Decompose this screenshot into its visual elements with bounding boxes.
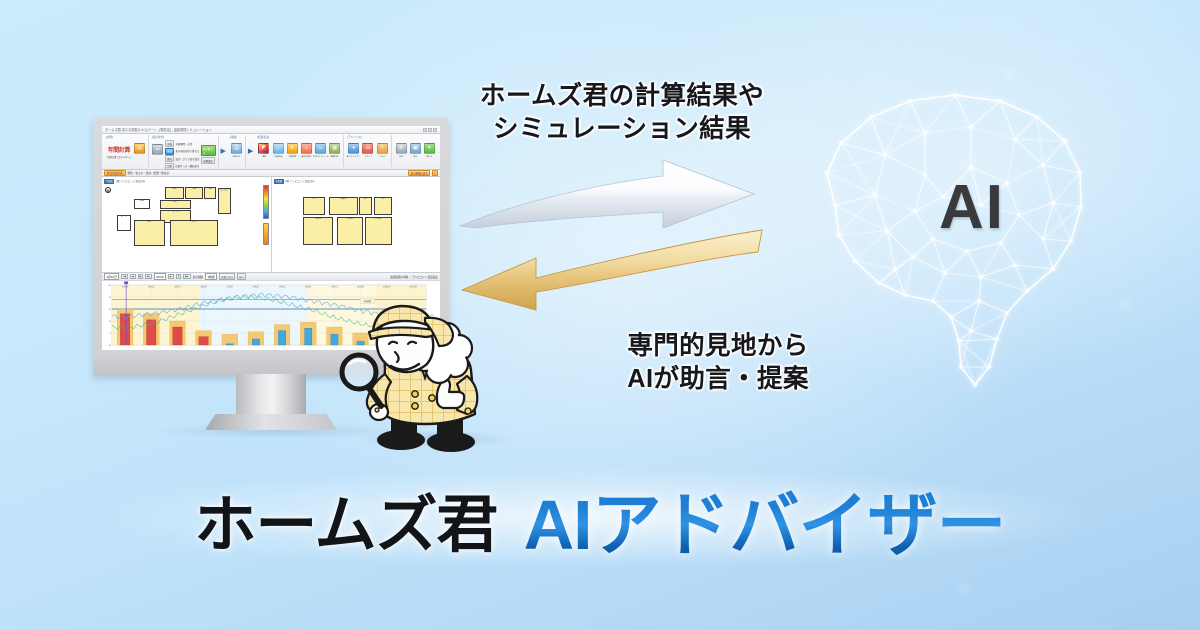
close-view-button[interactable]: ✕ 閉じる (423, 143, 436, 165)
bokeh-dot (960, 585, 968, 593)
settings-icon: ⚙ (396, 143, 407, 154)
room: CL (374, 197, 392, 215)
main-title: ホームズ君 AIアドバイザー (0, 478, 1200, 560)
title-product-name: ホームズ君 (194, 474, 497, 564)
condition-row[interactable]: 条件 設定・グラフ表示設定 (165, 155, 200, 162)
chart-right-label: 温度範囲の印刷 ／ アンビエント温度設定 (390, 275, 438, 279)
reset-button[interactable]: 初期設定 (201, 157, 216, 164)
svg-text:20: 20 (109, 309, 112, 311)
result-button-solar[interactable]: ☀ 日射取得 (286, 143, 299, 165)
print-button[interactable]: ⎙ 印刷する (230, 143, 243, 165)
room: 収納 (165, 187, 184, 199)
condition-text: 表示項目を切り替える (175, 149, 199, 153)
svg-text:30: 30 (109, 297, 112, 299)
result-caption: 日射取得 (288, 154, 296, 158)
result-button-envelope[interactable]: ⌂ 外皮性能 (272, 143, 285, 165)
misc-caption: 設定 (399, 154, 403, 158)
svg-text:-10: -10 (108, 345, 112, 347)
room: CL (303, 197, 325, 215)
advice-caption: ヘルプ (379, 154, 385, 158)
floorplan-2f: CL 階段室 WC CL 主寝室 子供室1 子供室2 (290, 191, 400, 247)
close-button[interactable] (433, 128, 437, 132)
time-field[interactable]: 05:00 (154, 273, 166, 280)
app-ribbon[interactable]: [計算] 年間計算 年間計算 (エネルギー) ▤ (102, 134, 440, 170)
poster-canvas: ホームズ君 省エネ診断エキスパート - [物件名] - 温熱環境シミュレーション… (0, 0, 1200, 630)
arrow-to-ai (458, 158, 758, 232)
pause-button[interactable]: ‖ (176, 274, 181, 280)
room: 階段室 (329, 197, 358, 215)
view-icon: ▣ (410, 143, 421, 154)
condition-text: 対象期間・日付 (175, 142, 192, 146)
room: WC (359, 197, 372, 215)
wall-icon: ▦ (329, 143, 340, 154)
heat-icon: ♨ (301, 143, 312, 154)
condition-chip: 条件 (165, 155, 175, 162)
help-icon[interactable]: ? (432, 170, 438, 176)
result-caption: 結露判定 (331, 154, 339, 158)
floorplan-caption: 1階 アンビエント温度分布 (116, 179, 146, 183)
help-button[interactable]: ? ヘルプ (376, 143, 389, 165)
interval-label: 表示間隔 (193, 275, 203, 279)
result-caption: 生活スケジュール (313, 154, 329, 158)
misc-caption: 閉じる (427, 154, 433, 158)
chart-icon: ▤ (134, 143, 145, 154)
recalculate-button[interactable]: 再計算する (201, 145, 216, 156)
svg-text:10: 10 (109, 321, 112, 323)
print-icon: ⎙ (231, 143, 242, 154)
condition-chip: 比較 (165, 163, 175, 170)
condition-text: 設定・グラフ表示設定 (175, 157, 199, 161)
room: ポーチ (117, 215, 131, 231)
condition-row-list: 実施 対象期間・日付 室温 表示項目を切り替える 条件 (165, 140, 200, 170)
result-button-condensation[interactable]: ▦ 結露判定 (328, 143, 341, 165)
ribbon-group-print: [印刷] ⎙ 印刷する (228, 135, 246, 167)
floorplan-pane-1f[interactable]: 平面図 1階 アンビエント温度分布 N 収納 洗面 浴室 キッチン 玄関 廊下 (102, 177, 272, 272)
ribbon-group-misc: ⚙ 設定 ▣ 表示 ✕ 閉じる (393, 135, 438, 167)
calc-chart-button[interactable]: ▤ (133, 143, 146, 165)
sun-icon: ☀ (287, 143, 298, 154)
room: 玄関 (134, 199, 151, 210)
chevron-right-icon: ▶ (220, 147, 227, 155)
svg-text:0: 0 (110, 333, 112, 335)
chart-button-1[interactable]: 先頭に戻る (219, 273, 235, 280)
compass-icon: N (105, 187, 111, 193)
homes-kun-mascot (333, 302, 518, 460)
room: キッチン (218, 188, 231, 214)
monitor-neck (236, 374, 306, 420)
chevron-right-icon: ▶ (247, 147, 254, 155)
room: 子供室2 (365, 217, 391, 245)
title-feature-name: AIアドバイザー (524, 469, 1006, 570)
condition-chip: 実施 (165, 140, 175, 147)
advice-caption: AIアドバイザー (347, 154, 361, 158)
prev-button[interactable]: ◀ (130, 274, 136, 280)
floorplan-tag: 平面図 (274, 179, 284, 184)
app-window-title: ホームズ君 省エネ診断エキスパート - [物件名] - 温熱環境シミュレーション (105, 127, 212, 132)
floorplan-header: 平面図 2階 アンビエント温度分布 (274, 179, 439, 184)
people-icon: ☺ (315, 143, 326, 154)
condition-text: 比較ケース・重ね表示 (175, 164, 199, 168)
result-button-load[interactable]: ♨ 暖冷房負荷 (300, 143, 313, 165)
print-caption: 印刷する (232, 154, 240, 158)
condition-preset-button[interactable]: ☰ (152, 144, 164, 166)
ribbon-group-advice: [アドバイス] ✦ AIアドバイザー ☰ レポート (345, 135, 391, 167)
callout-top: ホームズ君の計算結果や シミュレーション結果 (452, 80, 792, 145)
last-button[interactable]: ▶| (145, 274, 151, 280)
floorplan-caption: 2階 アンビエント温度分布 (285, 179, 315, 183)
thermometer-icon (263, 223, 269, 245)
condition-row[interactable]: 室温 表示項目を切り替える (165, 148, 200, 155)
step-button[interactable]: ▶▶ (183, 274, 191, 280)
play-button[interactable]: ▶ (168, 274, 174, 280)
maximize-button[interactable] (428, 128, 432, 132)
condition-row[interactable]: 実施 対象期間・日付 (165, 140, 200, 147)
result-caption: 暖冷房負荷 (301, 154, 311, 158)
bokeh-dot (700, 40, 706, 46)
ribbon-group-conditions: [表示条件] ☰ 実施 対象期間・日付 (150, 135, 219, 167)
chart-color-icon: ◩ (258, 143, 269, 154)
advice-caption: レポート (364, 154, 372, 158)
ai-label: AI (787, 37, 1157, 377)
result-button-temp[interactable]: ◩ 温熱 (257, 143, 270, 165)
result-caption: 外皮性能 (274, 154, 282, 158)
annual-calc-button[interactable]: 年間計算 年間計算 (エネルギー) (106, 141, 132, 167)
floorplan-tag: 平面図 (104, 179, 114, 184)
next-button[interactable]: ▶ (138, 274, 144, 280)
tabbar-subtitle: 断熱・省エネ・温熱／結果一覧表示 (128, 171, 170, 175)
floorplan-area: 平面図 1階 アンビエント温度分布 N 収納 洗面 浴室 キッチン 玄関 廊下 (102, 177, 440, 272)
room: 浴室 (204, 187, 216, 199)
room: 主寝室 (303, 217, 334, 245)
room: 和室 (134, 220, 165, 246)
first-button[interactable]: |◀ (121, 274, 127, 280)
room: リビング (170, 220, 218, 246)
back-button[interactable]: 前の画面に戻る (408, 170, 430, 177)
annual-calc-label: 年間計算 (108, 148, 130, 155)
annual-calc-caption: 年間計算 (エネルギー) (107, 155, 131, 159)
condition-row[interactable]: 比較 比較ケース・重ね表示 (165, 163, 200, 170)
chart-button-2[interactable]: 前へ (237, 273, 246, 280)
misc-caption: 表示 (413, 154, 417, 158)
interval-select[interactable]: 1時間 (205, 273, 217, 280)
room: 廊下 (160, 200, 191, 209)
floorplan-header: 平面図 1階 アンビエント温度分布 (104, 179, 269, 184)
date-field[interactable]: 1月12日 (104, 273, 119, 280)
floorplan-1f: 収納 洗面 浴室 キッチン 玄関 廊下 ホール ポーチ 和室 リビング (112, 185, 232, 247)
ai-advisor-button[interactable]: ✦ AIアドバイザー (347, 143, 360, 165)
ai-advice-icon: ✦ (348, 143, 359, 154)
ribbon-group-results: [結果表示] ◩ 温熱 ⌂ 外皮性能 (255, 135, 344, 167)
arrow-from-ai (458, 228, 764, 312)
ribbon-group-calc: [計算] 年間計算 年間計算 (エネルギー) ▤ (104, 135, 149, 167)
house-icon: ⌂ (273, 143, 284, 154)
floorplan-pane-2f[interactable]: 平面図 2階 アンビエント温度分布 CL 階段室 WC CL 主寝室 子供室1 … (272, 177, 441, 272)
report-button[interactable]: ☰ レポート (361, 143, 374, 165)
svg-text:40: 40 (109, 285, 112, 287)
app-titlebar: ホームズ君 省エネ診断エキスパート - [物件名] - 温熱環境シミュレーション (102, 126, 440, 134)
room: 洗面 (185, 187, 203, 199)
chart-toolbar[interactable]: 1月12日 |◀ ◀ ▶ ▶| 05:00 ▶ ‖ ▶▶ 表示間隔 1時間 先頭… (102, 272, 440, 280)
room: 子供室1 (337, 217, 363, 245)
settings-button[interactable]: ⚙ 設定 (395, 143, 408, 165)
tab-overall-result[interactable]: 総合判定結果 (104, 170, 126, 177)
help-icon: ? (377, 143, 388, 154)
minimize-button[interactable] (423, 128, 427, 132)
temperature-scale (263, 185, 269, 219)
ai-brain-graphic: AI (775, 55, 1145, 395)
monitor-foot (205, 414, 337, 430)
result-caption: 温熱 (262, 154, 266, 158)
condition-chip: 室温 (165, 148, 175, 155)
result-button-schedule[interactable]: ☺ 生活スケジュール (314, 143, 327, 165)
report-icon: ☰ (362, 143, 373, 154)
view-button[interactable]: ▣ 表示 (409, 143, 422, 165)
app-tabbar[interactable]: 総合判定結果 断熱・省エネ・温熱／結果一覧表示 前の画面に戻る ? (102, 170, 440, 177)
list-icon: ☰ (152, 144, 163, 155)
close-icon: ✕ (424, 143, 435, 154)
